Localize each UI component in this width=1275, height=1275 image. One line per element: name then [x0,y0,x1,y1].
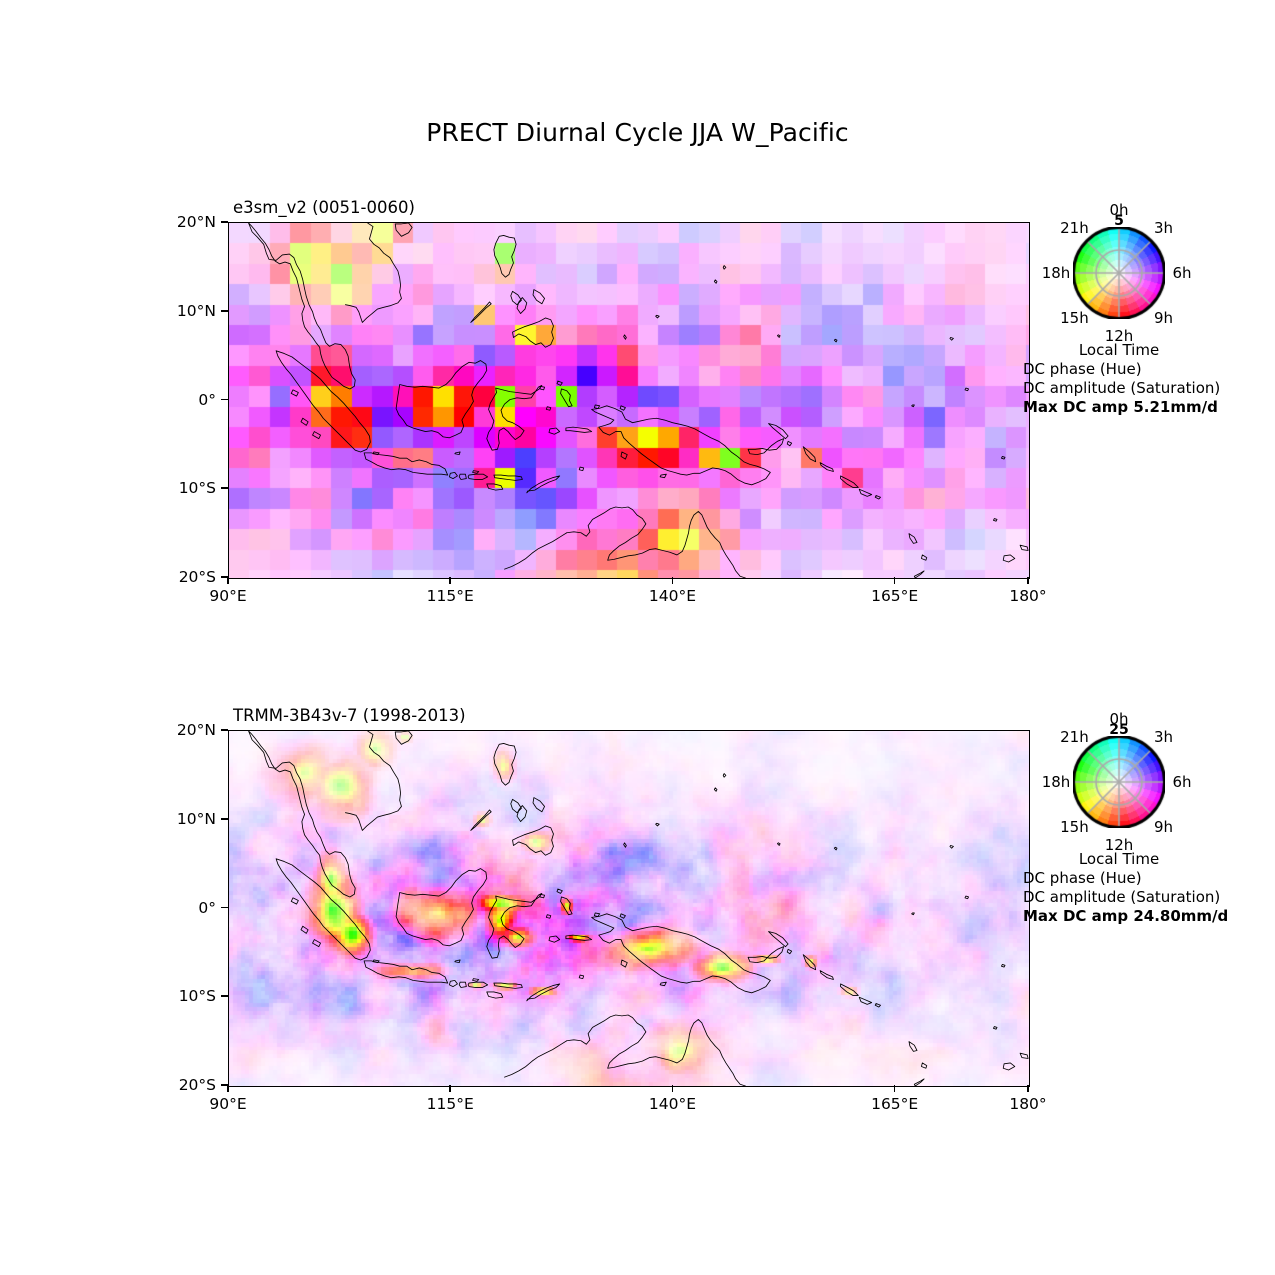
xtick-label-1-1: 115°E [427,1095,474,1113]
panel-title-e3sm-v2: e3sm_v2 (0051-0060) [233,198,415,217]
map-frame-e3sm-v2[interactable] [228,222,1030,579]
ytick-1-0 [221,729,228,731]
ytick-0-3 [221,487,228,489]
legend-caption-local-time: Local Time [1079,341,1159,359]
legend-hour-label-6: 18h [1042,264,1071,282]
ytick-label-0-3: 10°S [179,479,216,497]
ytick-1-3 [221,995,228,997]
legend-trmm-3b43v7: 0h3h6h9h12h15h18h21h25Local TimeDC phase… [1013,710,1223,910]
legend-hour-label-5: 15h [1060,309,1089,327]
panel-e3sm-v2: e3sm_v2 (0051-0060) [228,222,1028,577]
legend-caption-amplitude: DC amplitude (Saturation) [1023,379,1220,397]
legend-hour-label-5: 15h [1060,818,1089,836]
xtick-label-1-3: 165°E [871,1095,918,1113]
xtick-label-0-3: 165°E [871,587,918,605]
xtick-label-0-0: 90°E [209,587,246,605]
legend-radial-tick-e3sm-v2: 5 [1114,213,1124,229]
legend-hour-label-7: 21h [1060,219,1089,237]
legend-hour-label-3: 9h [1154,818,1173,836]
xtick-0-3 [894,577,896,584]
legend-hour-label-1: 3h [1154,728,1173,746]
ytick-label-1-0: 20°N [177,721,216,739]
map-frame-trmm-3b43v7[interactable] [228,730,1030,1087]
map-image-e3sm-v2 [229,223,1029,578]
xtick-0-2 [672,577,674,584]
xtick-label-0-1: 115°E [427,587,474,605]
legend-caption-amplitude: DC amplitude (Saturation) [1023,888,1220,906]
ytick-label-1-3: 10°S [179,987,216,1005]
panel-title-trmm-3b43v7: TRMM-3B43v-7 (1998-2013) [233,706,466,725]
ytick-label-1-2: 0° [198,899,216,917]
ytick-1-4 [221,1084,228,1086]
ytick-1-2 [221,907,228,909]
xtick-1-3 [894,1085,896,1092]
legend-radial-tick-trmm-3b43v7: 25 [1109,722,1128,738]
xtick-label-0-4: 180° [1009,587,1046,605]
ytick-label-0-2: 0° [198,391,216,409]
xtick-label-1-4: 180° [1009,1095,1046,1113]
ytick-0-2 [221,399,228,401]
ytick-0-4 [221,576,228,578]
ytick-0-0 [221,221,228,223]
xtick-1-2 [672,1085,674,1092]
panel-trmm-3b43v7: TRMM-3B43v-7 (1998-2013) [228,730,1028,1085]
ytick-label-1-1: 10°N [177,810,216,828]
map-image-trmm-3b43v7 [229,731,1029,1086]
figure-title: PRECT Diurnal Cycle JJA W_Pacific [0,118,1275,147]
legend-hour-label-2: 6h [1172,773,1191,791]
legend-max-amp: Max DC amp 24.80mm/d [1023,907,1228,925]
color-wheel-trmm-3b43v7 [1073,736,1165,828]
xtick-label-0-2: 140°E [649,587,696,605]
legend-hour-label-3: 9h [1154,309,1173,327]
xtick-0-1 [449,577,451,584]
ytick-label-0-0: 20°N [177,213,216,231]
legend-e3sm-v2: 0h3h6h9h12h15h18h21h5Local TimeDC phase … [1013,201,1223,401]
legend-hour-label-7: 21h [1060,728,1089,746]
xtick-0-0 [227,577,229,584]
legend-hour-label-1: 3h [1154,219,1173,237]
ytick-1-1 [221,818,228,820]
xtick-0-4 [1027,577,1029,584]
xtick-1-0 [227,1085,229,1092]
legend-caption-phase: DC phase (Hue) [1023,360,1142,378]
legend-caption-local-time: Local Time [1079,850,1159,868]
xtick-label-1-2: 140°E [649,1095,696,1113]
ytick-0-1 [221,310,228,312]
ytick-label-0-4: 20°S [179,568,216,586]
ytick-label-1-4: 20°S [179,1076,216,1094]
xtick-label-1-0: 90°E [209,1095,246,1113]
legend-max-amp: Max DC amp 5.21mm/d [1023,398,1218,416]
legend-hour-label-2: 6h [1172,264,1191,282]
legend-caption-phase: DC phase (Hue) [1023,869,1142,887]
xtick-1-1 [449,1085,451,1092]
ytick-label-0-1: 10°N [177,302,216,320]
xtick-1-4 [1027,1085,1029,1092]
legend-hour-label-6: 18h [1042,773,1071,791]
color-wheel-e3sm-v2 [1073,227,1165,319]
